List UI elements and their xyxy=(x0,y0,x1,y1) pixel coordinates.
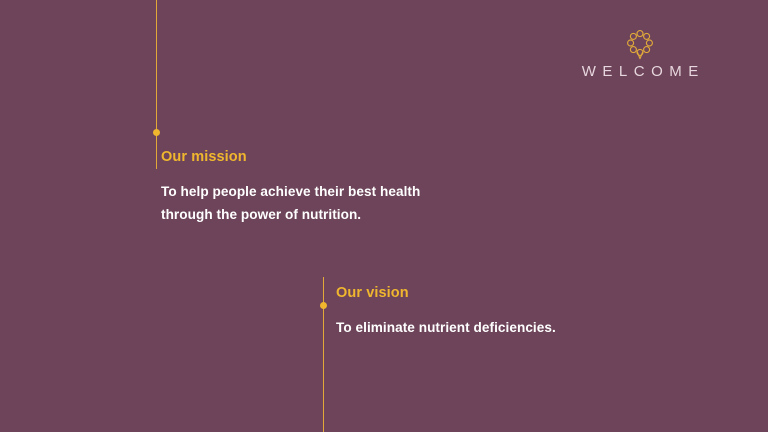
vision-body: To eliminate nutrient deficiencies. xyxy=(336,316,556,339)
vision-heading: Our vision xyxy=(336,285,409,302)
timeline-entry-vision: Our vision To eliminate nutrient deficie… xyxy=(0,0,700,432)
timeline-node-vision xyxy=(320,302,327,309)
welcome-slide: WELCOME Our mission To help people achie… xyxy=(0,0,768,432)
timeline-rule-vision xyxy=(323,277,324,432)
